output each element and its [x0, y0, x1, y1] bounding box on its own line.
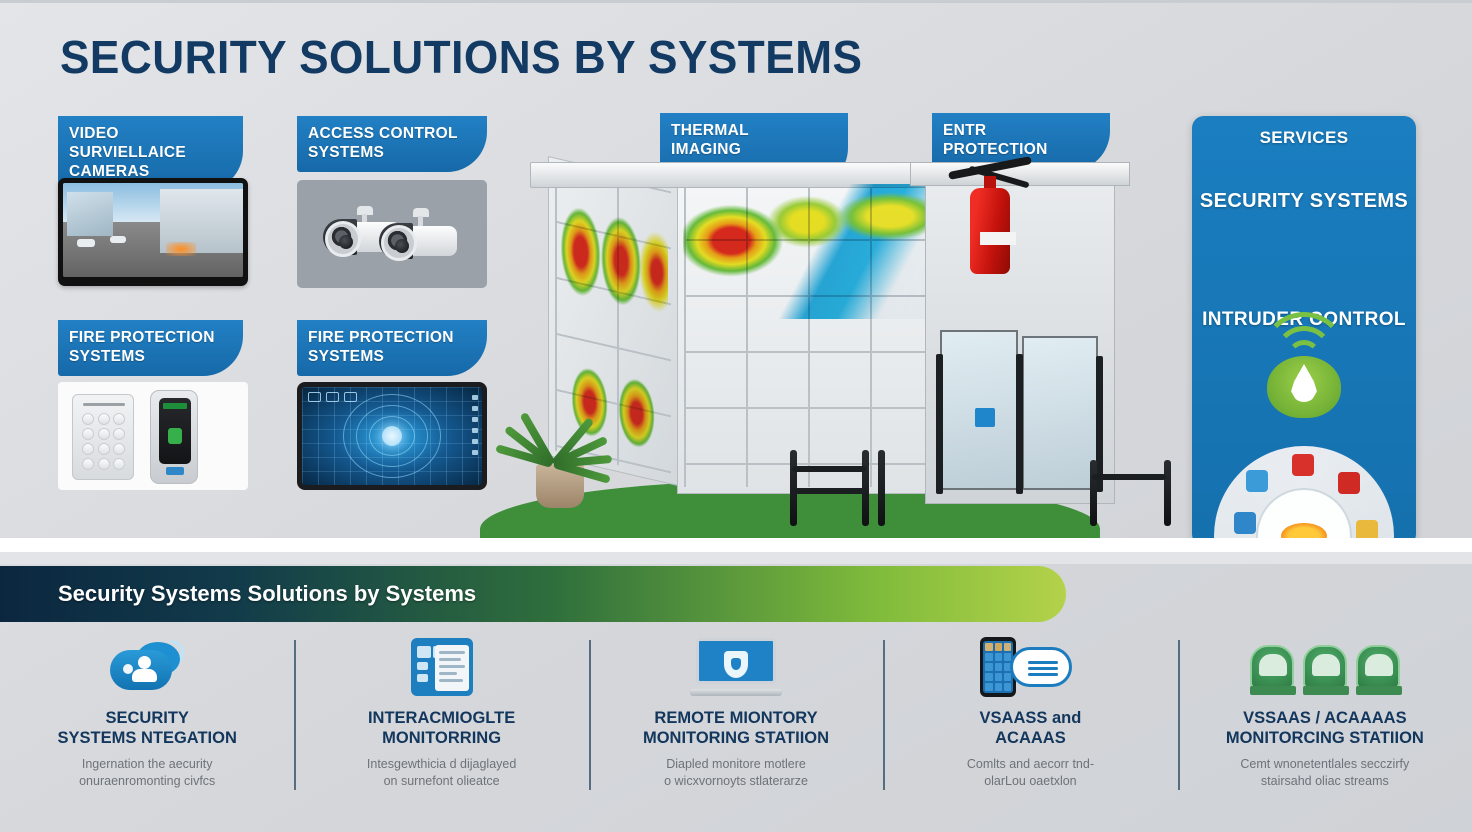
section-banner: Security Systems Solutions by Systems [0, 566, 1066, 622]
shield-icon [724, 651, 748, 678]
keypad-key [82, 458, 94, 470]
keypad-key [113, 413, 125, 425]
monitor-car [110, 236, 126, 243]
hud-chip-icon [308, 392, 321, 402]
page-title: SECURITY SOLUTIONS BY SYSTEMS [60, 30, 862, 84]
phone-cell [1004, 683, 1012, 691]
extinguisher-label [980, 232, 1016, 245]
feature-subtitle: Cemt wnonetentlales secczirfy stairsahd … [1240, 756, 1409, 790]
turnstile-arm [792, 466, 866, 472]
phone-cell [985, 643, 993, 651]
doc-line [439, 665, 465, 668]
doc-line [439, 679, 463, 682]
gray-separator-band [0, 552, 1472, 564]
keypad-key [82, 443, 94, 455]
tile-tech-tablet [297, 382, 487, 490]
laptop-base [690, 689, 782, 696]
doc-sheet [435, 645, 469, 691]
access-panel [58, 382, 248, 490]
phone-screen [983, 641, 1013, 693]
tile-cctv-cameras [297, 180, 487, 288]
panel-security-systems-label: SECURITY SYSTEMS [1192, 190, 1416, 213]
phone-cell [985, 683, 993, 691]
white-separator [0, 538, 1472, 552]
doc-tile [417, 662, 428, 670]
feature-title: VSSAAS / ACAAAAS MONITORCING STATIION [1226, 708, 1424, 748]
building-scene [470, 140, 1210, 550]
phone-cell [995, 663, 1003, 671]
tablet-screen [302, 387, 482, 485]
infographic-page: SECURITY SOLUTIONS BY SYSTEMS VIDEO SURV… [0, 0, 1472, 832]
keypad-key [113, 428, 125, 440]
tile-access-devices [58, 382, 248, 490]
camera-lens [381, 225, 417, 261]
phone-cloud-icon [980, 636, 1080, 698]
reader-card-icon [168, 428, 182, 444]
services-panel: SERVICES SECURITY SYSTEMS INTRUDER CONTR… [1192, 116, 1416, 546]
hud-chip-icon [326, 392, 339, 402]
doc-line [439, 651, 465, 654]
tablet-device [297, 382, 487, 490]
feature-remote-monitoring-station[interactable]: REMOTE MIONTORY MONITORING STATIION Diap… [589, 628, 883, 832]
potted-plant [494, 378, 624, 508]
keypad-key [98, 428, 110, 440]
door-post [936, 354, 943, 494]
turnstile-arm [792, 488, 866, 494]
camera-panel [297, 180, 487, 288]
laptop-screen [696, 638, 776, 684]
monitor-building-left [67, 192, 114, 235]
badge-icon [1356, 645, 1400, 689]
badge-icon [1250, 645, 1294, 689]
keypad-device [72, 394, 134, 480]
cctv-camera [365, 220, 457, 262]
badge-label-bar [1250, 686, 1296, 695]
phone-cell [995, 673, 1003, 681]
phone-cell [985, 653, 993, 661]
feature-subtitle: Comlts and aecorr tnd- olarLou oaetxlon [967, 756, 1094, 790]
hud-chip-icon [344, 392, 357, 402]
feature-title: VSAASS and ACAAAS [980, 708, 1082, 748]
badge-inner [1365, 654, 1393, 676]
monitor-screen [63, 183, 243, 277]
feature-intelligent-monitoring[interactable]: INTERACMIOGLTE MONITORRING Intesgewthici… [294, 628, 588, 832]
badge-label-bar [1356, 686, 1402, 695]
keypad-key [98, 413, 110, 425]
wheel-icon [1338, 472, 1360, 494]
badge-inner [1259, 654, 1287, 676]
tablet-core-icon [382, 426, 402, 446]
document-dashboard-icon [411, 636, 473, 698]
banner-fire-protection-right: FIRE PROTECTION SYSTEMS [297, 320, 487, 376]
turnstile-arm [1092, 474, 1166, 480]
thermal-heatmap-overlay-left [556, 186, 668, 332]
data-line [1028, 661, 1058, 664]
doc-tile [417, 674, 428, 682]
keypad-key [98, 458, 110, 470]
cloud-people-icon [110, 636, 184, 698]
person-body [132, 669, 157, 682]
reader-face [159, 398, 191, 464]
keypad-keys [82, 413, 126, 470]
turnstile-post [1164, 460, 1171, 526]
wheel-icon [1246, 470, 1268, 492]
extinguisher-body [970, 188, 1010, 274]
tile-video-monitor [58, 178, 248, 286]
keypad-key [82, 413, 94, 425]
wheel-icon [1234, 512, 1256, 534]
badge-icon [1303, 645, 1347, 689]
door-post [1016, 354, 1023, 494]
panel-services-label: SERVICES [1192, 128, 1416, 148]
green-badges-icon [1250, 636, 1400, 698]
cloud-data-lines [1028, 661, 1058, 679]
doc-line [439, 672, 457, 675]
keypad-key [82, 428, 94, 440]
feature-security-systems-integration[interactable]: SECURITY SYSTEMS NTEGATION Ingernation t… [0, 628, 294, 832]
monitor-light-glow [166, 242, 196, 256]
phone-cell [995, 653, 1003, 661]
features-row: SECURITY SYSTEMS NTEGATION Ingernation t… [0, 628, 1472, 832]
camera-arm [418, 216, 423, 226]
badge-label-bar [1303, 686, 1349, 695]
entrance-door-right [1022, 336, 1098, 490]
phone-cell [985, 663, 993, 671]
tablet-hud [308, 392, 357, 402]
feature-title: SECURITY SYSTEMS NTEGATION [58, 708, 237, 748]
phone-cell [985, 673, 993, 681]
data-line [1028, 673, 1058, 676]
doc-line [439, 658, 461, 661]
monitor-device [58, 178, 248, 286]
phone-cell [995, 643, 1003, 651]
top-edge [0, 0, 1472, 3]
banner-access-control: ACCESS CONTROL SYSTEMS [297, 116, 487, 172]
laptop-shield-icon [690, 636, 782, 698]
doc-tile [417, 646, 431, 658]
banner-fire-protection-left: FIRE PROTECTION SYSTEMS [58, 320, 243, 376]
feature-vsaas-acaas[interactable]: VSAASS and ACAAAS Comlts and aecorr tnd-… [883, 628, 1177, 832]
card-reader-device [150, 390, 198, 484]
reader-led [166, 467, 184, 475]
door-keypad-sign [975, 408, 995, 427]
section-banner-text: Security Systems Solutions by Systems [58, 581, 476, 607]
badge-inner [1312, 654, 1340, 676]
phone-cell [995, 683, 1003, 691]
turnstile-post [1090, 460, 1097, 526]
monitor-car [77, 239, 95, 247]
phone-cell [1004, 643, 1012, 651]
data-line [1028, 667, 1058, 670]
keypad-key [98, 443, 110, 455]
feature-subtitle: Diapled monitore motlere o wicxvornoyts … [664, 756, 808, 790]
feature-subtitle: Ingernation the aecurity onuraenromontin… [79, 756, 215, 790]
door-post [1096, 356, 1103, 492]
services-wheel-diagram [1214, 446, 1394, 546]
wheel-icon [1292, 454, 1314, 476]
keypad-slot [83, 403, 125, 406]
fire-extinguisher [962, 162, 1018, 274]
keypad-key [113, 458, 125, 470]
feature-title: INTERACMIOGLTE MONITORRING [368, 708, 515, 748]
reader-status-bar [163, 403, 187, 409]
feature-vsaas-acaas-monitoring-station[interactable]: VSSAAS / ACAAAAS MONITORCING STATIION Ce… [1178, 628, 1472, 832]
camera-lens [325, 221, 361, 257]
feature-subtitle: Intesgewthicia d dijaglayed on surnefont… [367, 756, 516, 790]
keypad-key [113, 443, 125, 455]
turnstile-post [878, 450, 885, 526]
feature-title: REMOTE MIONTORY MONITORING STATIION [643, 708, 829, 748]
